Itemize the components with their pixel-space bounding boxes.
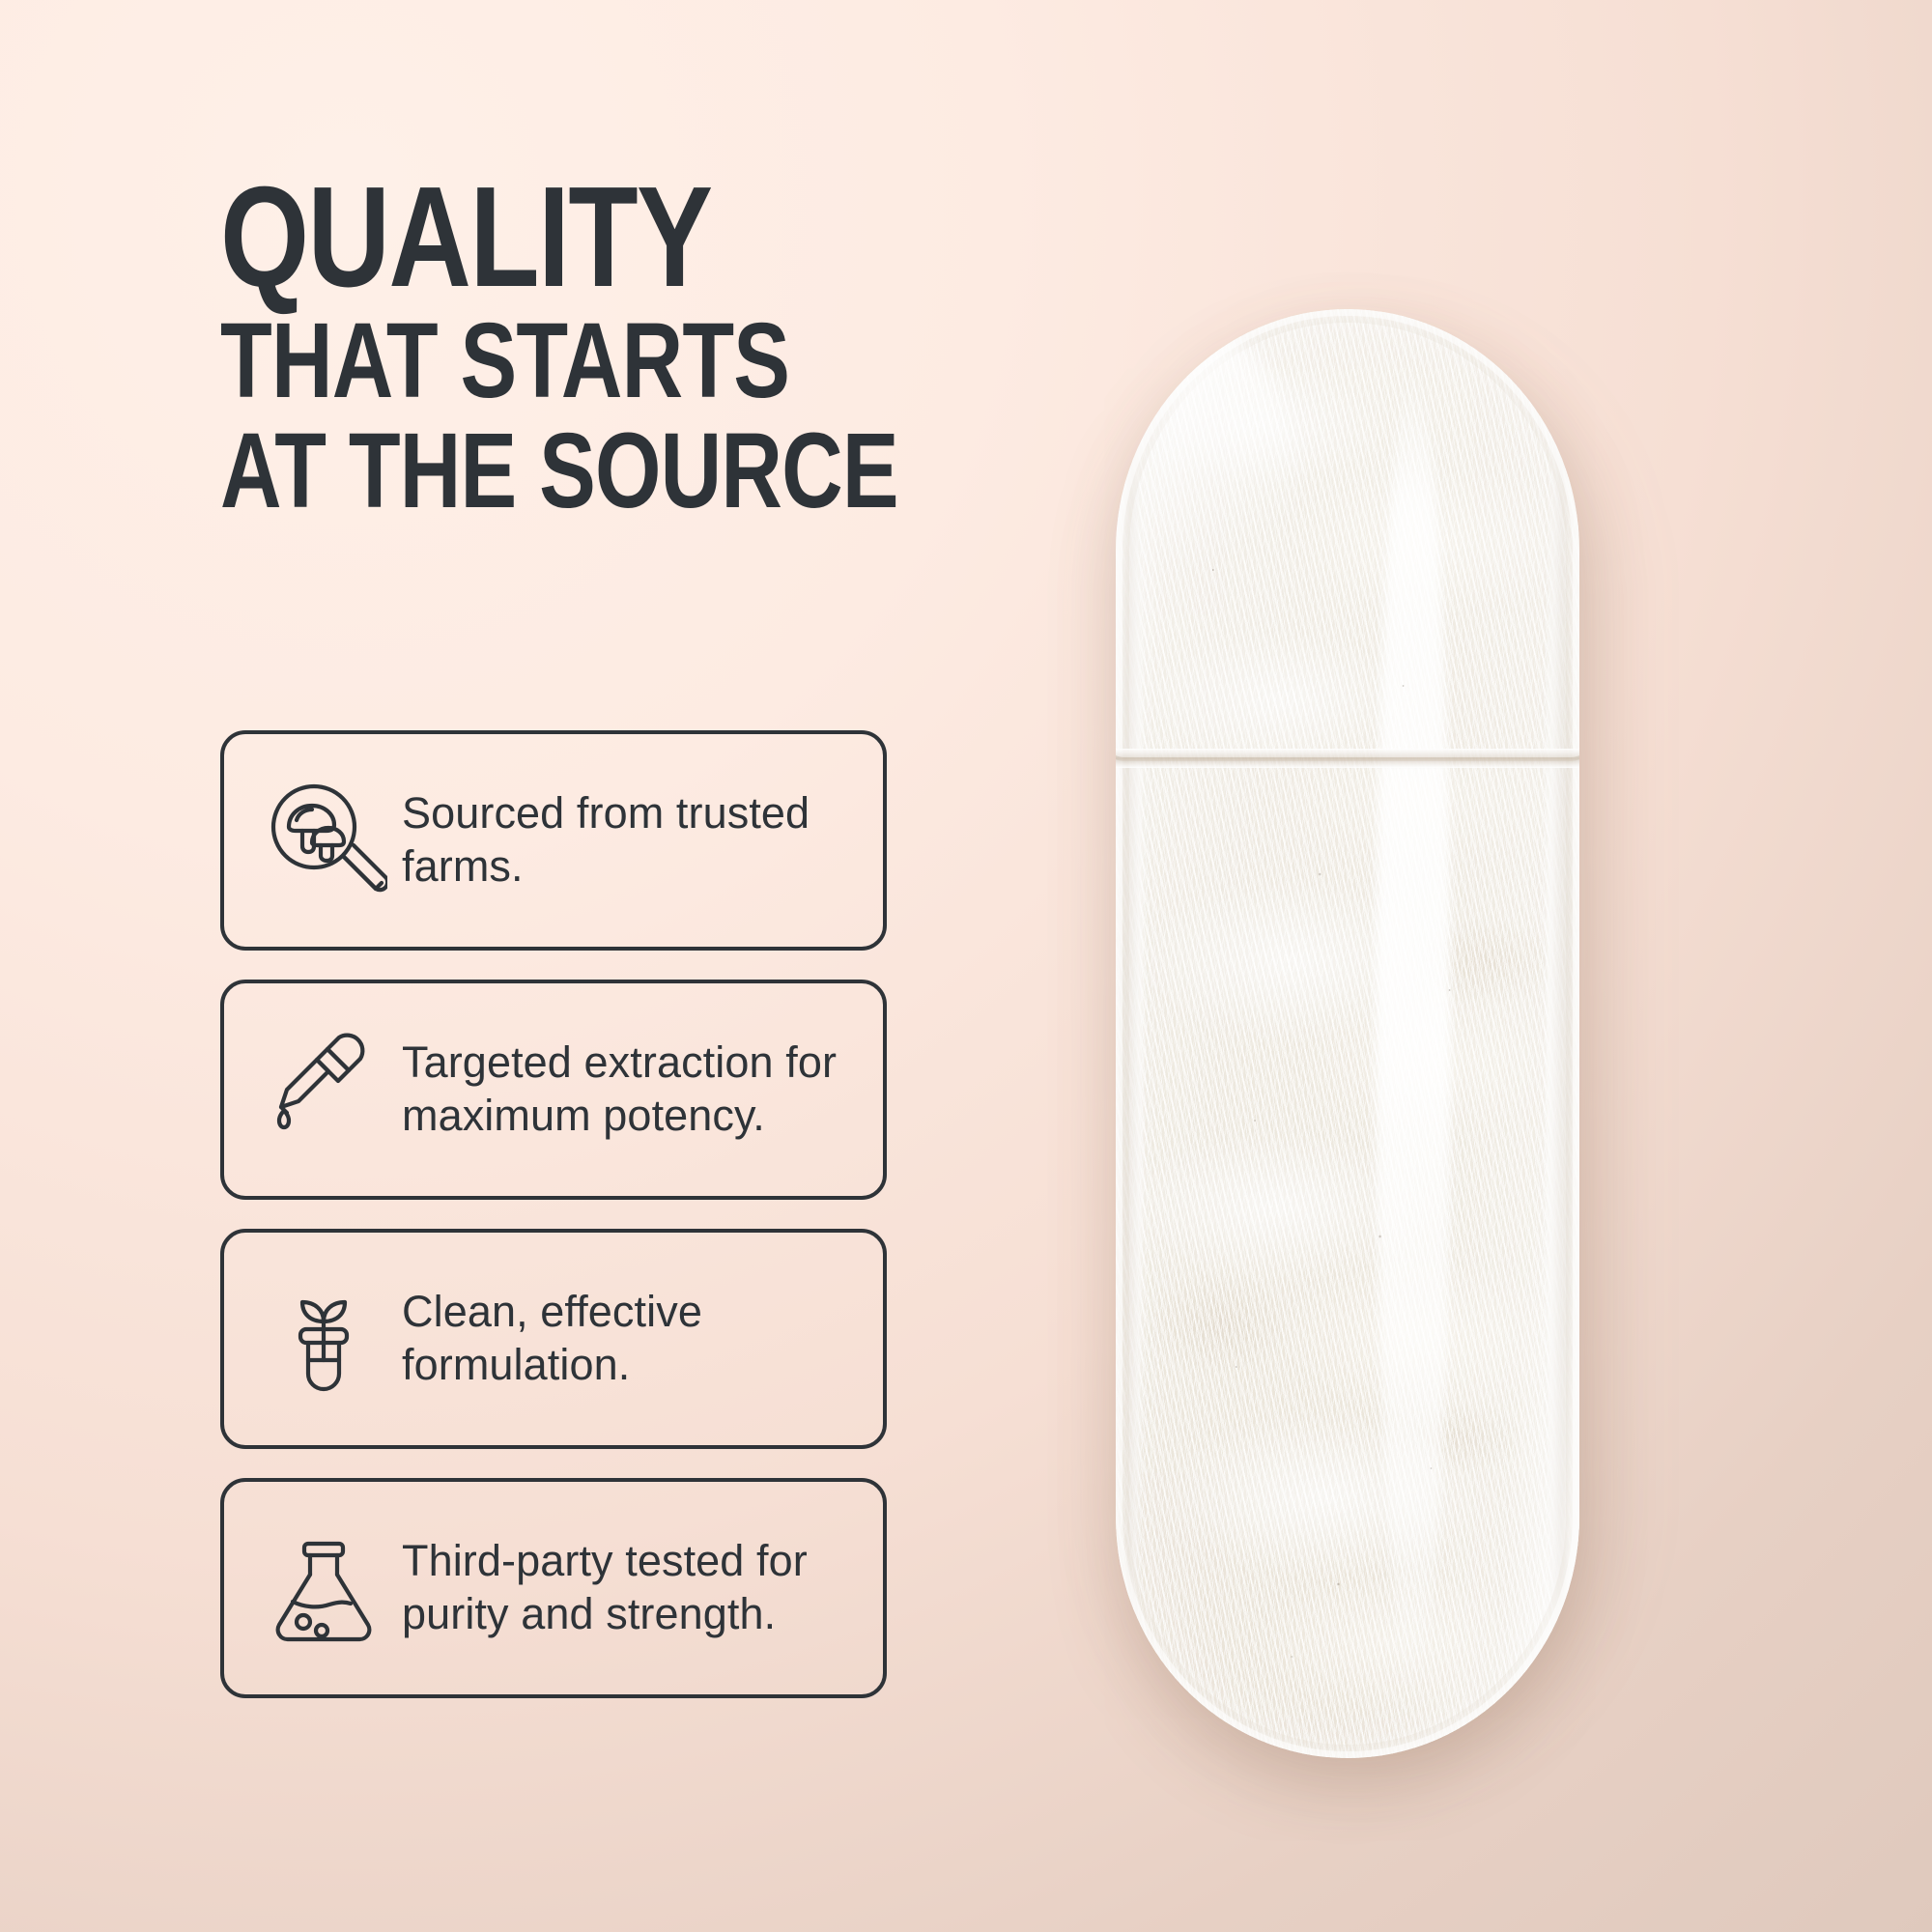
- mushroom-fibers-layer-2: [1116, 309, 1579, 1758]
- page-title: QUALITY THAT STARTS AT THE SOURCE: [220, 172, 896, 526]
- feature-card-text: Targeted extraction for maximum potency.: [396, 1037, 873, 1143]
- mushroom-magnifier-icon: [251, 768, 396, 913]
- feature-card-text: Clean, effective formulation.: [396, 1286, 873, 1392]
- erlenmeyer-flask-icon: [251, 1516, 396, 1661]
- headline-line-2: THAT STARTS: [220, 307, 761, 415]
- headline-line-1: QUALITY: [220, 172, 761, 303]
- mushroom-stem-highlight: [1376, 367, 1451, 1700]
- test-tube-sprout-icon: [251, 1266, 396, 1411]
- dropper-icon: [251, 1017, 396, 1162]
- feature-card-extraction[interactable]: Targeted extraction for maximum potency.: [220, 980, 887, 1200]
- lions-mane-capsule: [1116, 309, 1579, 1758]
- product-image: [1116, 309, 1579, 1758]
- headline-line-3: AT THE SOURCE: [220, 417, 761, 526]
- feature-card-text: Third-party tested for purity and streng…: [396, 1535, 873, 1641]
- feature-card-sourced[interactable]: Sourced from trusted farms.: [220, 730, 887, 951]
- feature-card-text: Sourced from trusted farms.: [396, 787, 873, 894]
- headline-block: QUALITY THAT STARTS AT THE SOURCE: [220, 172, 896, 526]
- feature-card-tested[interactable]: Third-party tested for purity and streng…: [220, 1478, 887, 1698]
- feature-card-list: Sourced from trusted farms. Targeted ext…: [220, 730, 887, 1727]
- feature-card-formulation[interactable]: Clean, effective formulation.: [220, 1229, 887, 1449]
